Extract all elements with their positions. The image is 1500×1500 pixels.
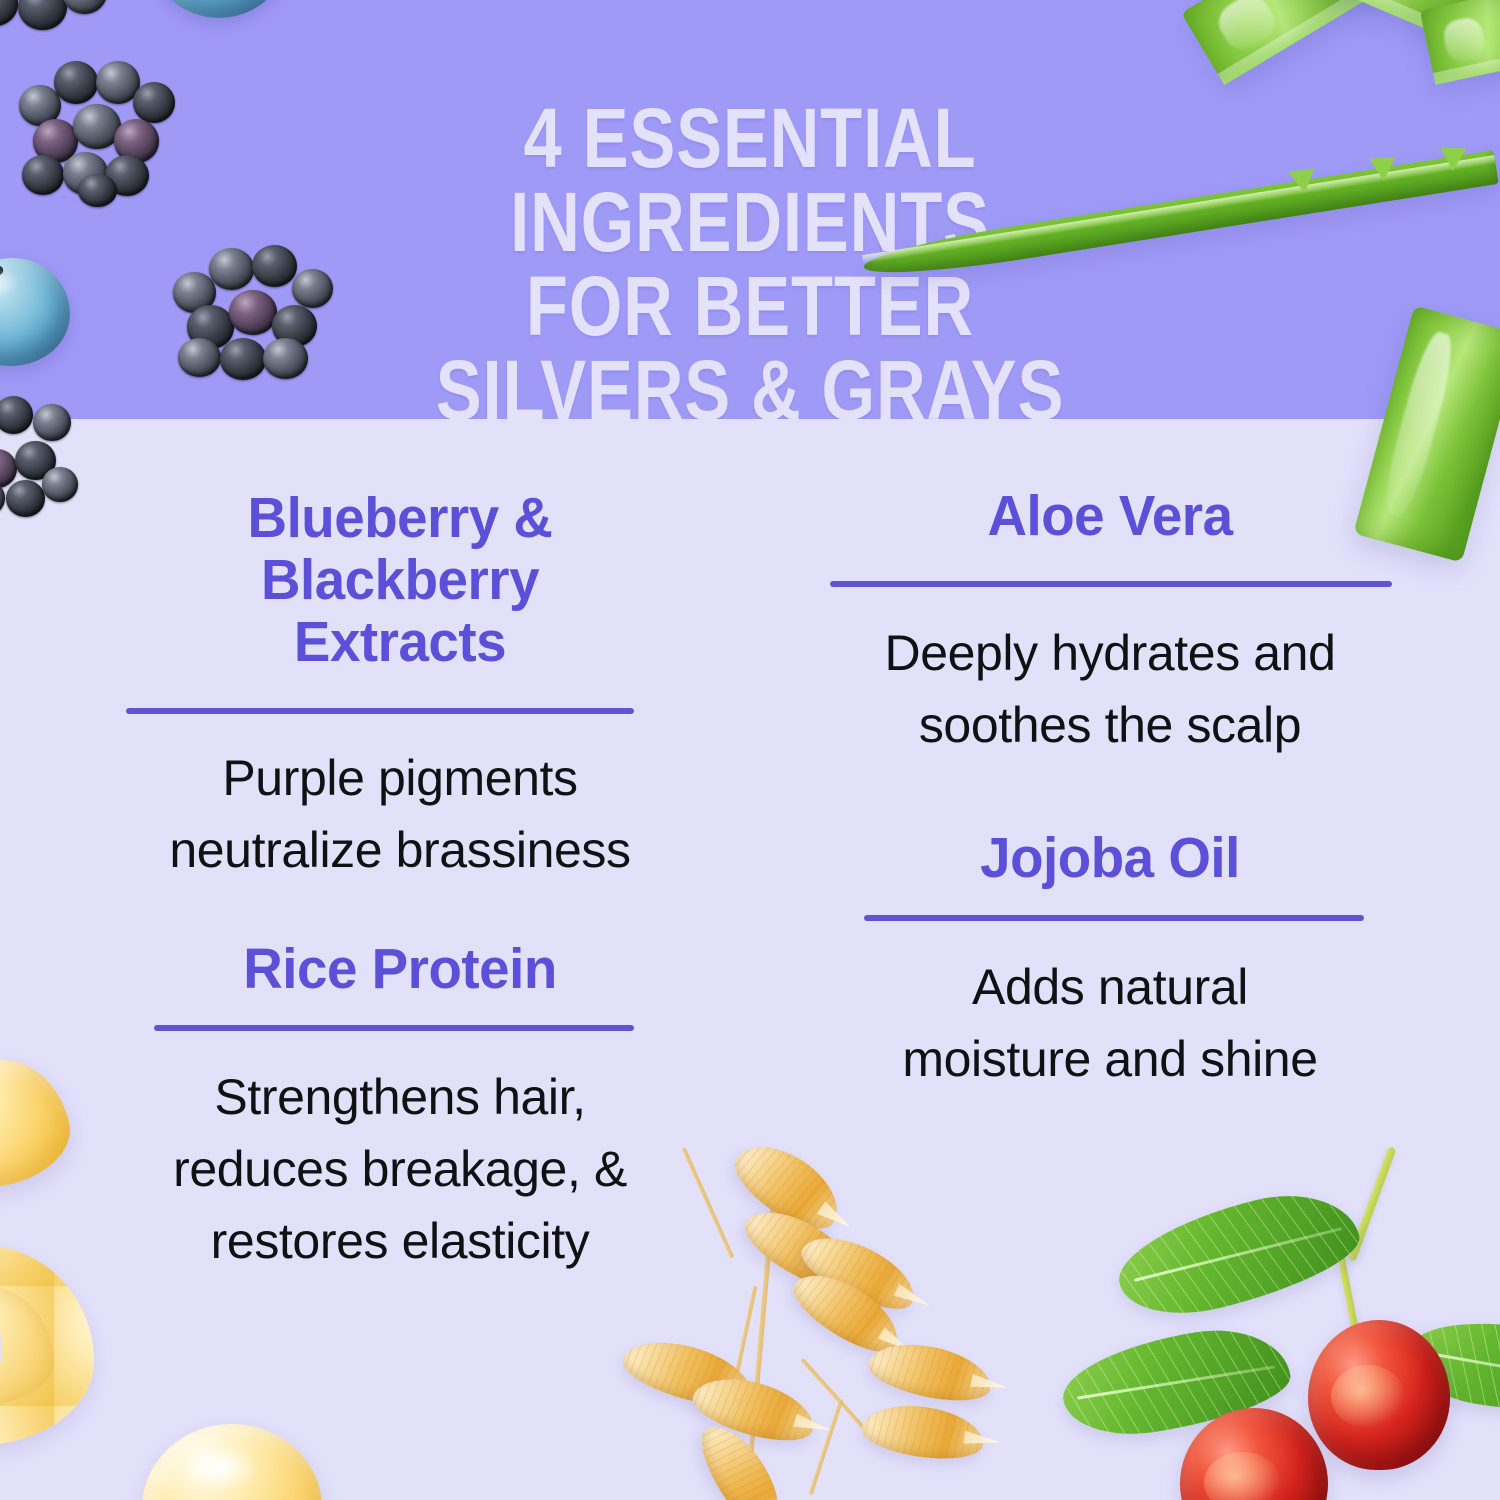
infographic-canvas: 4 ESSENTIAL INGREDIENTS FOR BETTER SILVE… bbox=[0, 0, 1500, 1500]
ingredient-column-left: Blueberry & Blackberry Extracts Purple p… bbox=[110, 419, 690, 1277]
ingredient-divider bbox=[864, 915, 1364, 921]
ingredient-divider bbox=[830, 581, 1392, 587]
ingredient-card-jojoba-oil: Jojoba Oil Adds natural moisture and shi… bbox=[820, 827, 1400, 1095]
ingredient-benefit-blueberry-blackberry: Purple pigments neutralize brassiness bbox=[110, 742, 690, 886]
ingredient-divider bbox=[154, 1025, 634, 1031]
ingredient-column-right: Aloe Vera Deeply hydrates and soothes th… bbox=[820, 419, 1400, 1095]
ingredient-benefit-aloe-vera: Deeply hydrates and soothes the scalp bbox=[820, 617, 1400, 761]
ingredient-benefit-jojoba-oil: Adds natural moisture and shine bbox=[820, 951, 1400, 1095]
ingredients-content: Blueberry & Blackberry Extracts Purple p… bbox=[0, 419, 1500, 1500]
ingredient-name-jojoba-oil: Jojoba Oil bbox=[832, 827, 1389, 889]
ingredient-benefit-rice-protein: Strengthens hair, reduces breakage, & re… bbox=[110, 1061, 690, 1277]
ingredient-card-blueberry-blackberry: Blueberry & Blackberry Extracts Purple p… bbox=[110, 419, 690, 886]
header-banner: 4 ESSENTIAL INGREDIENTS FOR BETTER SILVE… bbox=[0, 0, 1500, 419]
ingredient-name-aloe-vera: Aloe Vera bbox=[832, 419, 1389, 547]
ingredient-name-blueberry-blackberry: Blueberry & Blackberry Extracts bbox=[122, 419, 679, 673]
page-title: 4 ESSENTIAL INGREDIENTS FOR BETTER SILVE… bbox=[135, 96, 1365, 419]
ingredient-name-rice-protein: Rice Protein bbox=[122, 938, 679, 1000]
ingredient-divider bbox=[126, 708, 634, 714]
ingredient-card-rice-protein: Rice Protein Strengthens hair, reduces b… bbox=[110, 938, 690, 1276]
ingredient-card-aloe-vera: Aloe Vera Deeply hydrates and soothes th… bbox=[820, 419, 1400, 761]
